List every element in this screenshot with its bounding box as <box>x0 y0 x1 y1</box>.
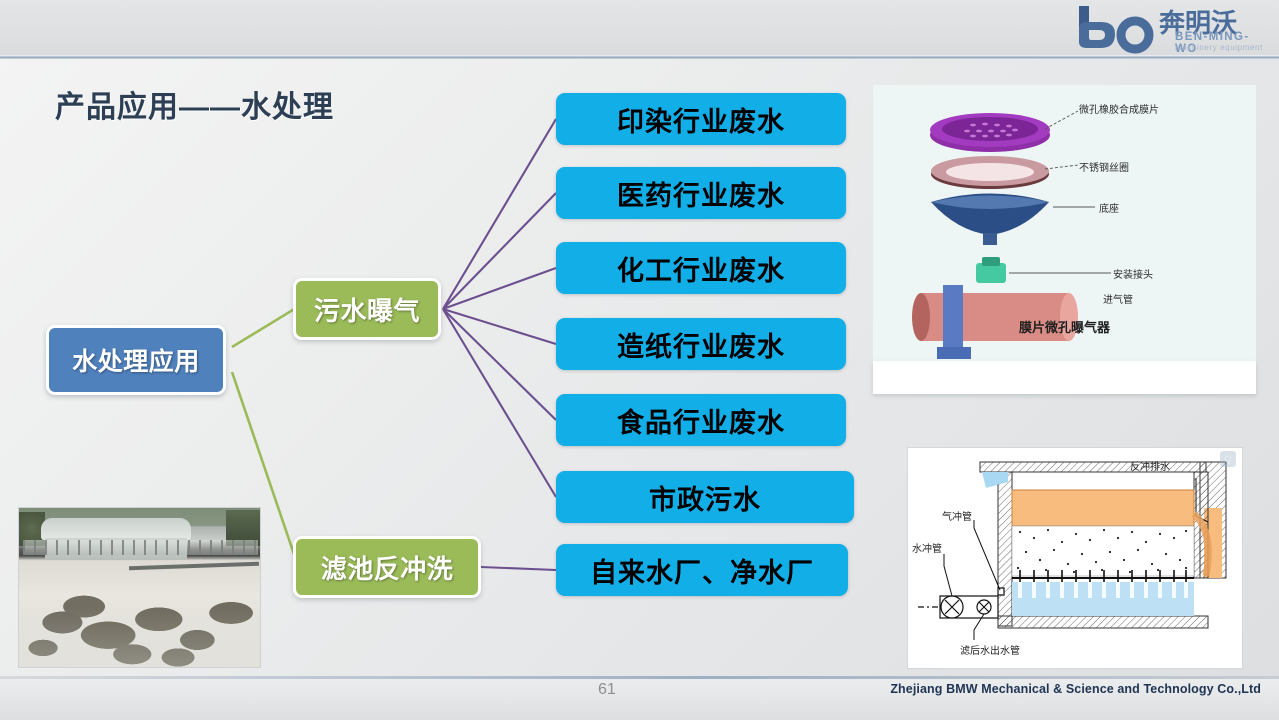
leaf-label-7: 自来水厂、净水厂 <box>590 551 814 590</box>
base-plate-icon <box>931 194 1049 246</box>
leaf-label-1: 印染行业废水 <box>617 100 785 139</box>
node-root-water-treatment[interactable]: 水处理应用 <box>46 325 226 395</box>
aeration-pool-photo <box>18 507 261 668</box>
connector-root-to-aeration <box>232 308 296 347</box>
node-branch-label-2: 滤池反冲洗 <box>321 549 454 586</box>
filter-label-water-scour-pipe: 水冲管 <box>912 540 942 555</box>
pool-railing <box>23 540 258 555</box>
image-watermark-icon: Q <box>1220 451 1236 467</box>
filter-label-filtered-water-outlet: 滤后水出水管 <box>960 642 1020 657</box>
leaf-label-3: 化工行业废水 <box>617 249 785 288</box>
connector-aeration-to-leaf-2 <box>443 193 556 309</box>
node-root-label: 水处理应用 <box>72 342 200 378</box>
filter-label-backwash-drain: 反冲排水 <box>1130 458 1170 473</box>
leaf-label-2: 医药行业废水 <box>617 174 785 213</box>
filter-inlet-piping <box>918 588 1004 618</box>
mounting-joint-icon <box>976 257 1006 283</box>
connector-aeration-to-leaf-3 <box>443 268 556 309</box>
aerator-label-membrane: 微孔橡胶合成膜片 <box>1079 101 1159 116</box>
leaf-municipal-sewage[interactable]: 市政污水 <box>556 471 854 523</box>
aerator-diagram-caption: 膜片微孔曝气器 <box>873 317 1256 336</box>
node-branch-sewage-aeration[interactable]: 污水曝气 <box>293 278 441 340</box>
filter-basin-cross-section <box>908 448 1243 669</box>
node-branch-filter-backwash[interactable]: 滤池反冲洗 <box>293 536 481 598</box>
connector-backwash-to-leaf-7 <box>481 567 556 570</box>
microporous-membrane-disc-icon <box>930 113 1050 152</box>
aerator-label-base: 底座 <box>1099 200 1119 215</box>
aerator-label-air-inlet: 进气管 <box>1103 291 1133 306</box>
filter-label-air-scour-pipe: 气冲管 <box>942 508 972 523</box>
stainless-steel-ring-icon <box>931 156 1049 189</box>
leaf-label-5: 食品行业废水 <box>617 401 785 440</box>
aerator-image-footer-panel <box>873 361 1256 394</box>
page-number: 61 <box>598 681 616 699</box>
connector-aeration-to-leaf-1 <box>443 119 556 309</box>
leaf-label-4: 造纸行业废水 <box>617 325 785 364</box>
footer-company-name: Zhejiang BMW Mechanical & Science and Te… <box>890 682 1261 696</box>
membrane-aerator-diagram: 微孔橡胶合成膜片 不锈钢丝圈 底座 安装接头 进气管 膜片微孔曝气器 <box>873 85 1256 363</box>
leaf-paper-wastewater[interactable]: 造纸行业废水 <box>556 318 846 370</box>
leaf-food-wastewater[interactable]: 食品行业废水 <box>556 394 846 446</box>
slide-canvas: 奔明沃 BEN-MING-WO machinery equipment 产品应用… <box>0 0 1279 720</box>
leaf-waterworks-purification-plant[interactable]: 自来水厂、净水厂 <box>556 544 848 596</box>
node-branch-label-1: 污水曝气 <box>314 291 420 328</box>
leaf-chemical-wastewater[interactable]: 化工行业废水 <box>556 242 846 294</box>
leaf-printing-dyeing-wastewater[interactable]: 印染行业废水 <box>556 93 846 145</box>
leaf-label-6: 市政污水 <box>649 478 761 517</box>
filter-backwash-diagram: 反冲排水 气冲管 水冲管 滤后水出水管 Q <box>907 447 1243 669</box>
aerator-label-steel-ring: 不锈钢丝圈 <box>1079 159 1129 174</box>
aerator-label-mounting-joint: 安装接头 <box>1113 266 1153 281</box>
pool-pipe <box>129 562 259 571</box>
building-roof <box>41 518 191 540</box>
leaf-pharmaceutical-wastewater[interactable]: 医药行业废水 <box>556 167 846 219</box>
